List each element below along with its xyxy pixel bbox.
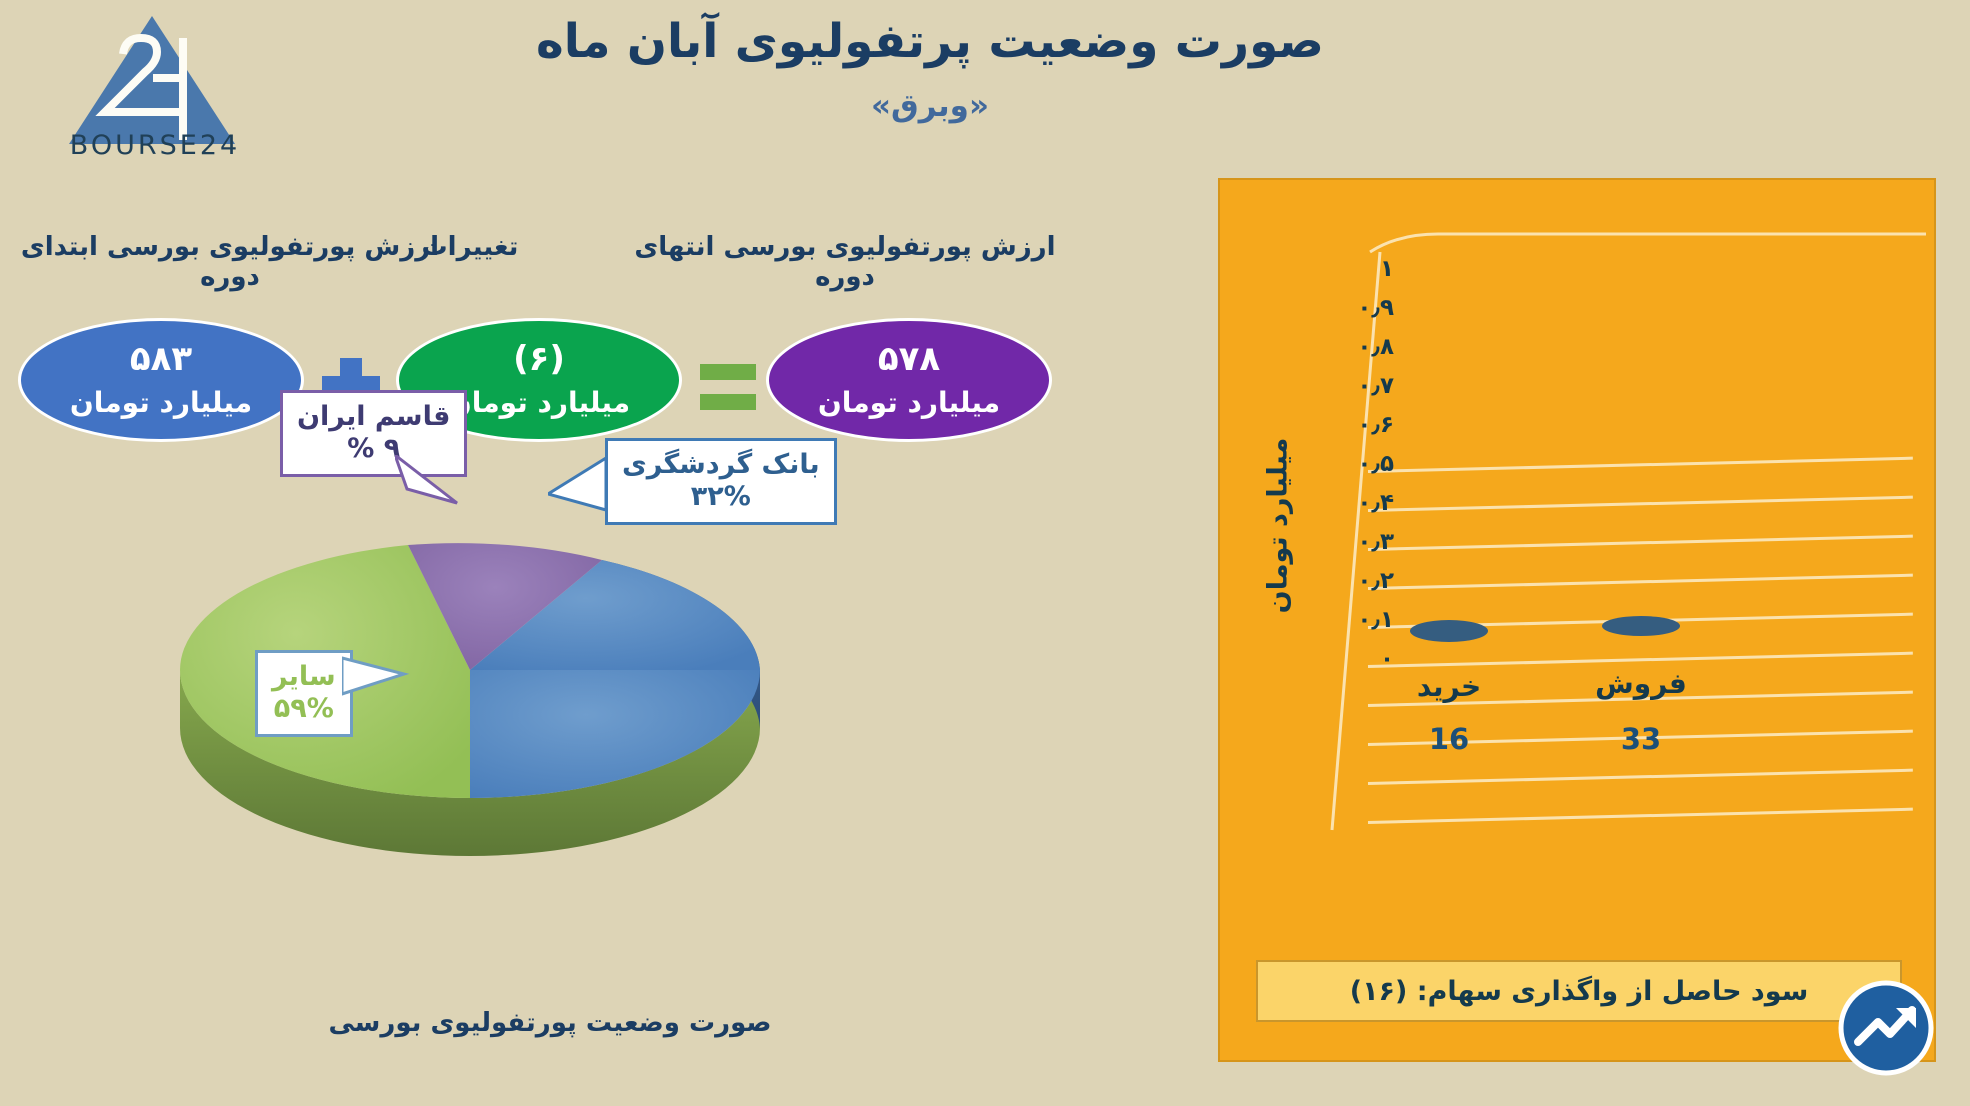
pie-callout-bank-tail [548,454,610,526]
y-tick-label: ۱ [1324,256,1394,282]
pie-callout-other-value: ۵۹% [272,693,336,725]
gridline [1368,535,1913,551]
y-tick-label: ۰٫۴ [1324,490,1394,516]
bar-buy [1410,620,1488,642]
summary-bubble-end: ۵۷۸ میلیارد تومان [766,318,1052,442]
pie-callout-bank-value: ۳۲% [622,481,820,513]
portfolio-pie-chart: قاسم ایران ۹ % بانک گردشگری ۳۲% سایر ۵۹% [150,460,970,880]
y-tick-label: ۰٫۱ [1324,607,1394,633]
summary-start-unit: میلیارد تومان [70,385,252,420]
page-title: صورت وضعیت پرتفولیوی آبان ماه [380,14,1480,69]
equals-icon [700,364,756,410]
summary-change-value: (۶) [513,340,565,379]
column-header-start-value: ارزش پورتفولیوی بورسی ابتدای دوره [10,232,450,292]
profit-note-box: سود حاصل از واگذاری سهام: (۱۶) [1256,960,1902,1022]
pie-callout-ghasem-tail [395,455,465,515]
bourse24-arrow-badge-icon [1838,980,1934,1076]
gridline [1368,808,1913,824]
pie-callout-ghasem-label: قاسم ایران [297,401,450,433]
bar-chart-y-axis-title: میلیارد تومان [1263,396,1294,656]
y-tick-label: ۰٫۸ [1324,334,1394,360]
column-header-end-value: ارزش پورتفولیوی بورسی انتهای دوره [620,232,1070,292]
pie-chart-footnote: صورت وضعیت پورتفولیوی بورسی [250,1008,850,1038]
gridline [1368,574,1913,590]
bar-value-sell: 33 [1556,722,1726,756]
brand-logo: BOURSE24 [55,10,265,180]
pie-callout-bank-gardeshgari: بانک گردشگری ۳۲% [605,438,837,525]
pie-callout-other-tail [342,652,410,708]
profit-note-text: سود حاصل از واگذاری سهام: (۱۶) [1350,976,1809,1007]
pie-callout-other-label: سایر [272,661,336,693]
summary-end-value: ۵۷۸ [878,340,940,379]
summary-bubble-start: ۵۸۳ میلیارد تومان [18,318,304,442]
bourse24-triangle-logo-icon [65,10,240,150]
transactions-bar-chart-panel: میلیارد تومان ۱ ۰٫۹ ۰٫۸ ۰٫۷ ۰٫۶ ۰٫۵ ۰٫۴ … [1218,178,1936,1062]
y-tick-label: ۰٫۶ [1324,412,1394,438]
bar-sell [1602,616,1680,636]
pie-callout-other: سایر ۵۹% [255,650,353,737]
bar-category-label-sell: فروش [1556,667,1726,700]
brand-logo-text: BOURSE24 [55,130,255,161]
gridline [1368,652,1913,668]
pie-callout-bank-label: بانک گردشگری [622,449,820,481]
summary-end-unit: میلیارد تومان [818,385,1000,420]
gridline [1368,769,1913,785]
gridline-top [1368,232,1928,254]
summary-change-unit: میلیارد تومان [448,385,630,420]
y-tick-label: ۰٫۷ [1324,373,1394,399]
y-tick-label: ۰٫۳ [1324,529,1394,555]
bar-value-buy: 16 [1364,722,1534,756]
y-tick-label: ۰٫۵ [1324,451,1394,477]
y-tick-label: ۰٫۲ [1324,568,1394,594]
y-tick-label: ۰٫۹ [1324,295,1394,321]
page-subtitle: «وبرق» [380,88,1480,124]
summary-start-value: ۵۸۳ [130,340,192,379]
y-tick-label: ۰ [1324,646,1394,672]
bar-category-label-buy: خرید [1364,670,1534,703]
infographic-root: BOURSE24 صورت وضعیت پرتفولیوی آبان ماه «… [0,0,1970,1106]
gridline [1368,496,1913,512]
gridline [1368,457,1913,473]
